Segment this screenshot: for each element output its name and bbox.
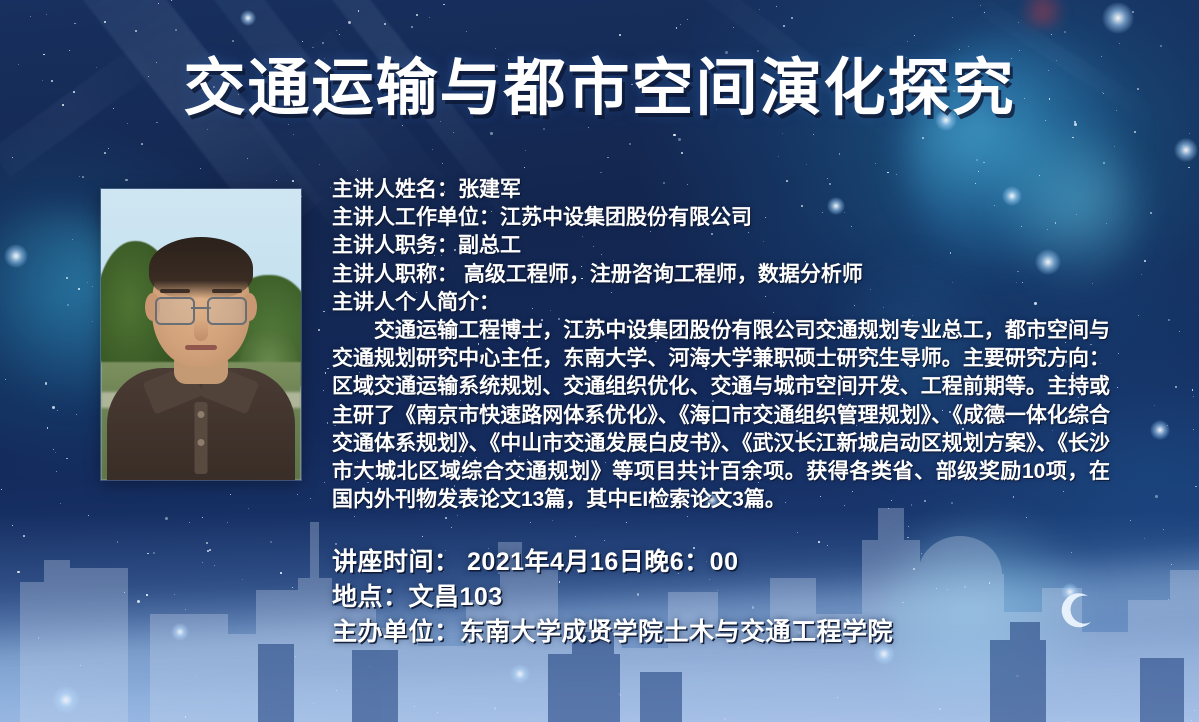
red-glow-accent xyxy=(1020,0,1066,28)
speaker-bio-text: 交通运输工程博士，江苏中设集团股份有限公司交通规划专业总工，都市空间与交通规划研… xyxy=(332,319,1110,511)
speaker-info-block: 主讲人姓名：张建军 主讲人工作单位：江苏中设集团股份有限公司 主讲人职务：副总工… xyxy=(332,176,1110,514)
speaker-photo xyxy=(101,189,301,480)
speaker-position-line: 主讲人职务：副总工 xyxy=(332,232,1110,260)
lecture-poster: 交通运输与都市空间演化探究 主讲人姓名：张建军 主讲人工作单位：江苏中设集团股 xyxy=(0,0,1199,722)
event-location-line: 地点：文昌103 xyxy=(332,580,1132,615)
event-time-line: 讲座时间： 2021年4月16日晚6：00 xyxy=(332,545,1132,580)
speaker-name-line: 主讲人姓名：张建军 xyxy=(332,176,1110,204)
event-organizer-line: 主办单位：东南大学成贤学院土木与交通工程学院 xyxy=(332,615,1132,650)
speaker-affiliation-line: 主讲人工作单位：江苏中设集团股份有限公司 xyxy=(332,204,1110,232)
speaker-bio-paragraph: 交通运输工程博士，江苏中设集团股份有限公司交通规划专业总工，都市空间与交通规划研… xyxy=(332,317,1110,514)
event-details-block: 讲座时间： 2021年4月16日晚6：00 地点：文昌103 主办单位：东南大学… xyxy=(332,545,1132,650)
speaker-title-line: 主讲人职称： 高级工程师，注册咨询工程师，数据分析师 xyxy=(332,261,1110,289)
speaker-bio-label: 主讲人个人简介： xyxy=(332,289,1110,317)
page-title: 交通运输与都市空间演化探究 xyxy=(0,52,1199,126)
